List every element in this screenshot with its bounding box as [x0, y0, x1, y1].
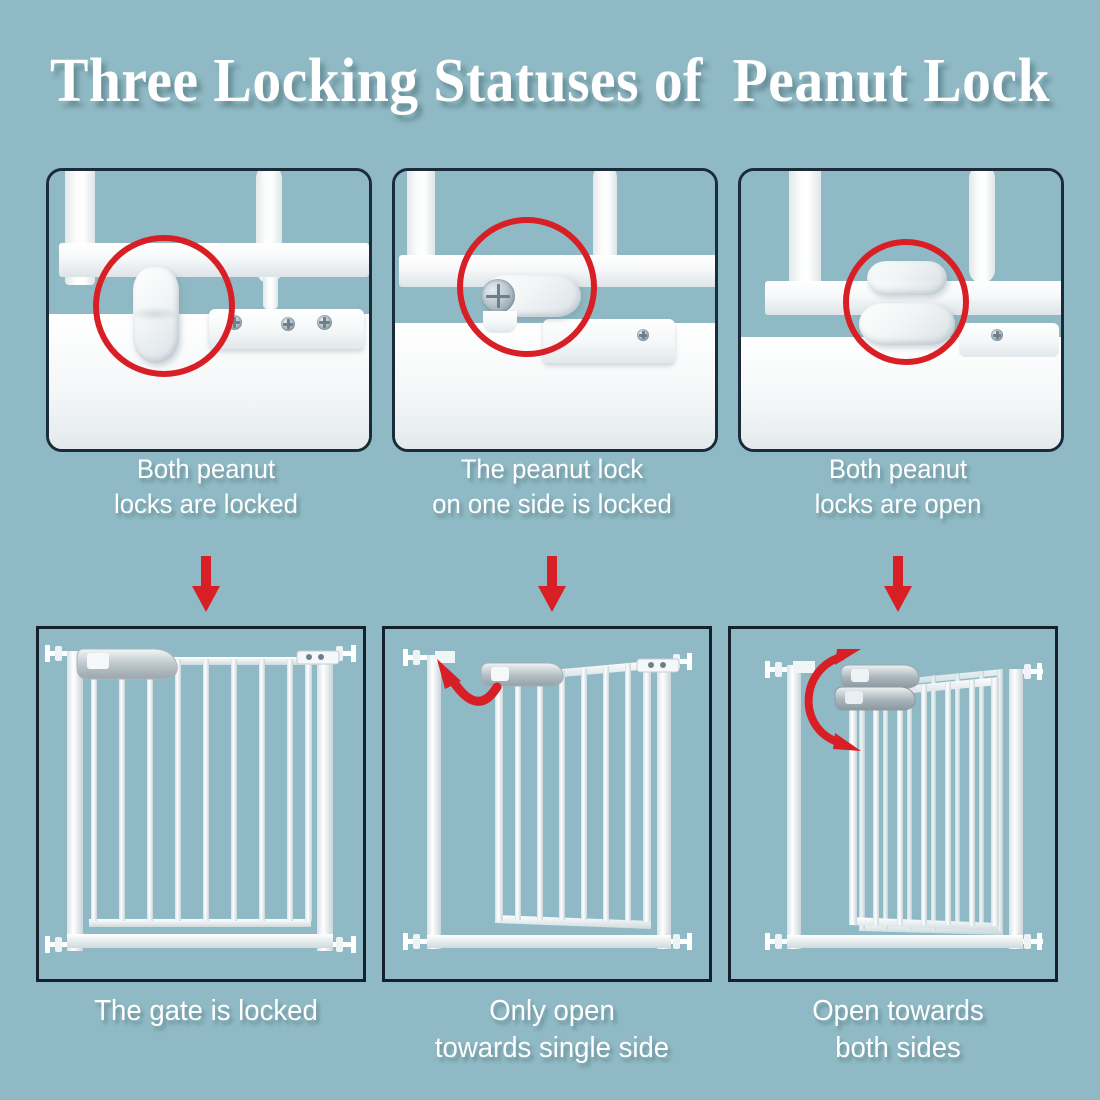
- frame-post-left: [67, 651, 83, 951]
- down-arrow-svg: [878, 556, 918, 612]
- gate-diagram-single-side: [382, 626, 712, 982]
- down-arrow-icon-3: [878, 556, 918, 612]
- lock-photo-both-locked: [46, 168, 372, 452]
- gate-diagram-both-sides: [728, 626, 1058, 982]
- caption-both-open: Both peanut locks are open: [737, 452, 1060, 521]
- latch-screw: [637, 329, 649, 341]
- lock-photo-image-2: [395, 171, 715, 449]
- latch-screw: [991, 329, 1003, 341]
- caption-single-side-open: Only open towards single side: [391, 993, 714, 1067]
- frame-post-left: [787, 665, 801, 949]
- frame-rail-bottom: [787, 935, 1023, 948]
- gate-bars: [91, 659, 312, 921]
- gate-post-left: [789, 171, 821, 295]
- caption-both-sides-open: Open towards both sides: [737, 993, 1060, 1067]
- gate-bar-right: [969, 171, 995, 283]
- highlight-circle-icon: [843, 239, 969, 365]
- frame-post-right: [317, 651, 333, 951]
- gate-latch-handle: [77, 649, 177, 679]
- page-title: Three Locking Statuses of Peanut Lock: [39, 46, 1062, 117]
- frame-post-right: [1009, 669, 1023, 949]
- gate-bars: [495, 661, 651, 922]
- down-arrow-icon-2: [532, 556, 572, 612]
- gate-latch-handle-lower: [835, 687, 915, 710]
- gate-catch-bracket: [637, 659, 679, 672]
- gate-latch-handle: [481, 663, 563, 686]
- gate-latch-handle-upper: [841, 665, 919, 688]
- latch-screw-mid: [281, 317, 295, 331]
- lock-photo-image-3: [741, 171, 1061, 449]
- lock-photo-image-1: [49, 171, 369, 449]
- down-arrow-svg: [532, 556, 572, 612]
- caption-one-side-locked: The peanut lock on one side is locked: [391, 452, 714, 521]
- frame-post-right: [657, 659, 671, 949]
- gate-bars: [849, 677, 999, 926]
- caption-both-locked: Both peanut locks are locked: [45, 452, 368, 521]
- gate-catch-bracket: [297, 651, 339, 664]
- lock-status-photo-row: [0, 168, 1100, 446]
- lock-photo-one-side-locked: [392, 168, 718, 452]
- mount-bolt-bottom-left: [403, 933, 431, 950]
- lock-photo-both-open: [738, 168, 1064, 452]
- mount-bolt-top-left: [403, 649, 431, 666]
- latch-plate: [959, 323, 1059, 357]
- gate-panel-open: [849, 677, 999, 931]
- frame-rail-bottom: [67, 934, 333, 948]
- caption-gate-locked: The gate is locked: [45, 993, 368, 1030]
- down-arrow-icon-1: [186, 556, 226, 612]
- frame-post-left: [427, 655, 441, 949]
- highlight-circle-icon: [457, 217, 597, 357]
- highlight-circle-icon: [93, 235, 235, 377]
- gate-result-row: [0, 626, 1100, 978]
- gate-diagram-locked: [36, 626, 366, 982]
- frame-rail-bottom: [427, 935, 671, 948]
- frame-top-cap-left: [793, 661, 815, 673]
- gate-panel-open: [495, 661, 651, 929]
- down-arrow-svg: [186, 556, 226, 612]
- latch-screw-right: [317, 315, 332, 330]
- gate-single-open-svg: [385, 629, 709, 979]
- gate-both-open-svg: [731, 629, 1055, 979]
- gate-closed-svg: [39, 629, 363, 979]
